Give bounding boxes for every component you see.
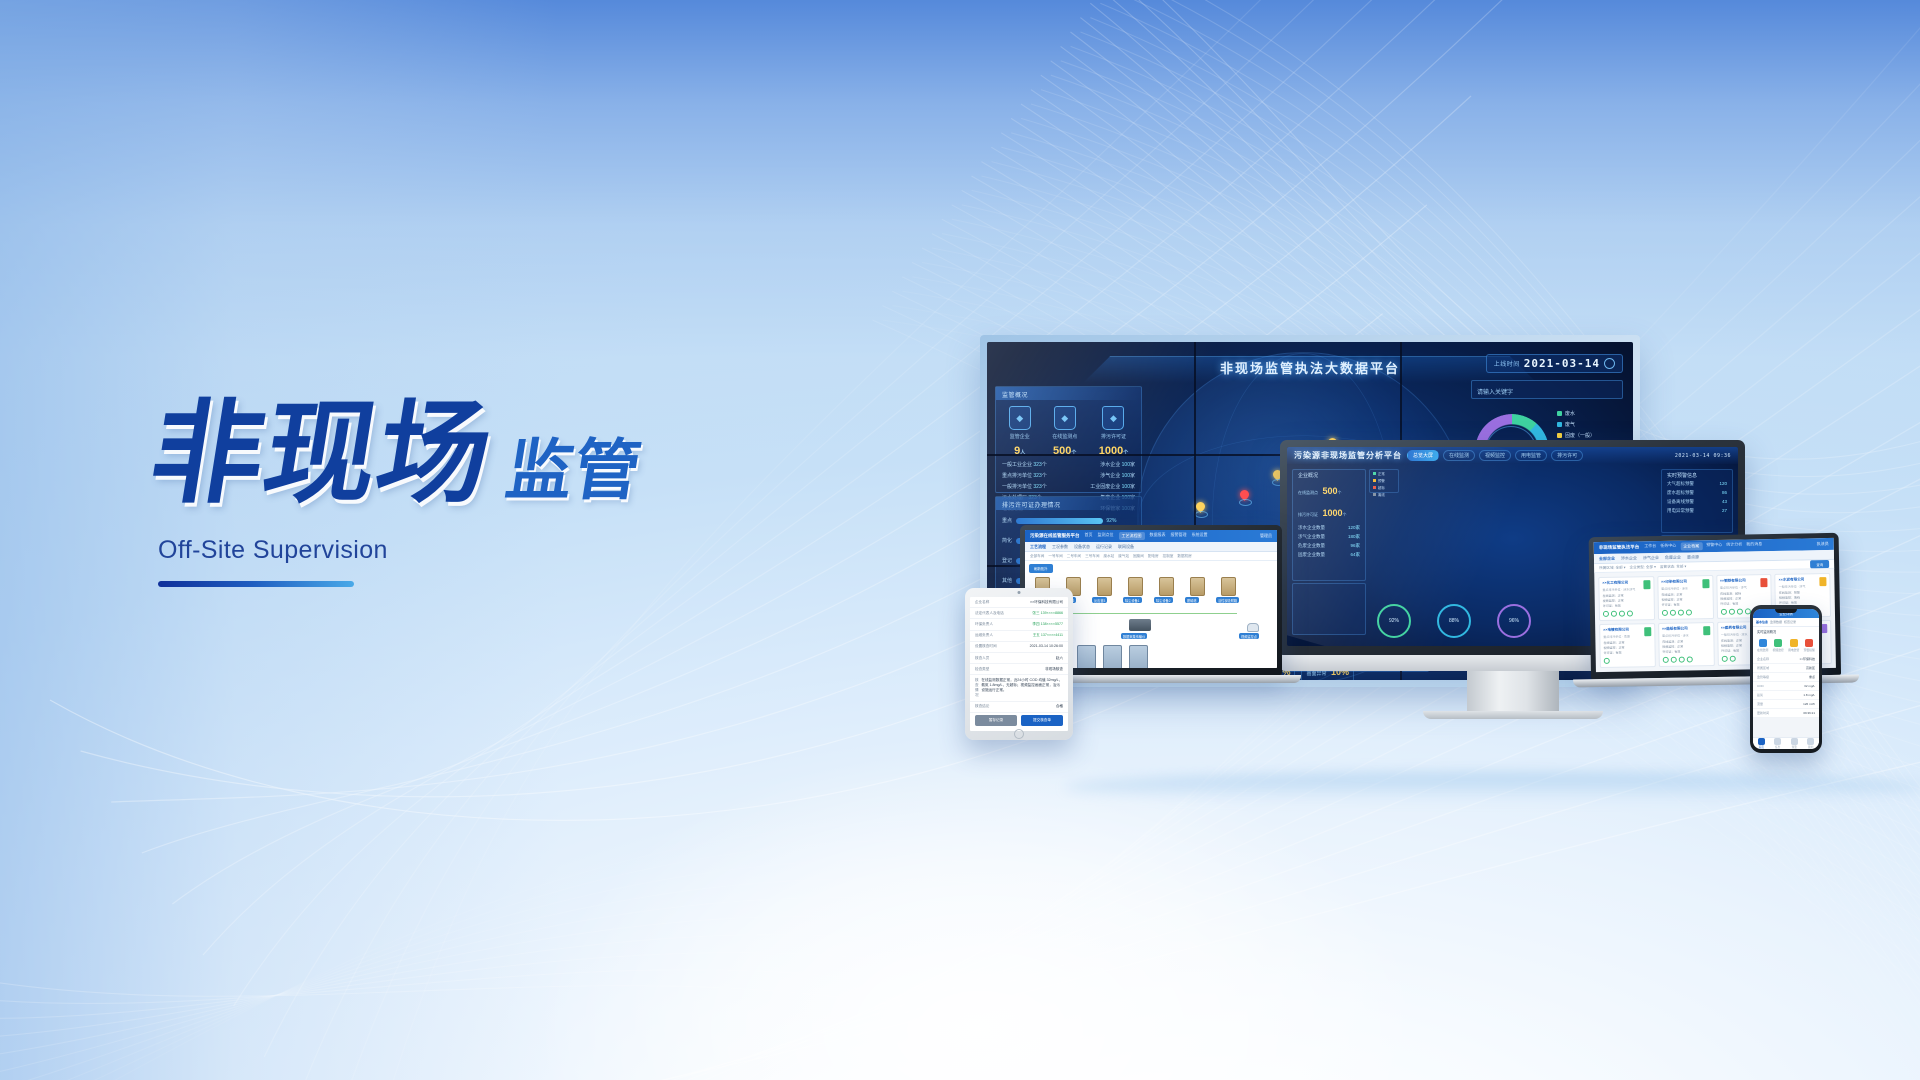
cards-menu-item[interactable]: 预警中心 xyxy=(1706,542,1722,550)
phone-tab[interactable]: 核查记录 xyxy=(1784,620,1796,624)
topology-filter-chip[interactable]: 废水站 xyxy=(1104,554,1115,559)
imac-datetime: 2021-03-14 09:36 xyxy=(1675,453,1731,459)
camera-icon[interactable] xyxy=(1247,623,1259,632)
topology-filter-chip[interactable]: 三号车间 xyxy=(1085,554,1099,559)
tablet-detail-row: 核查情况在线监测数据正常，近24小时 COD 均值 32mg/L，氨氮 1.8m… xyxy=(970,675,1068,701)
tablet-detail-row: 核查结论合格 xyxy=(970,702,1068,713)
topology-filter-chip[interactable]: 固废间 xyxy=(1133,554,1144,559)
topology-menu-item[interactable]: 监测点位 xyxy=(1098,532,1114,540)
smartphone-device: 企业详情 基本信息监测数据核查记录 实时监测概况 在线监测视频监控用电监管预警提… xyxy=(1750,605,1822,753)
tablet-screen[interactable]: 企业名称××环保科技有限公司法定代表人及电话张三 139××××8866环保负责… xyxy=(970,597,1068,731)
phone-tabs: 基本信息监测数据核查记录 xyxy=(1753,618,1819,627)
topology-user: 管理员 xyxy=(1260,533,1272,539)
topology-filter-chip[interactable]: 数据机房 xyxy=(1177,554,1191,559)
tablet-detail-row: 企业名称××环保科技有限公司 xyxy=(970,597,1068,608)
cards-filter-select[interactable]: 企业类型: 全部 ▾ xyxy=(1629,565,1655,570)
phone-nav-item[interactable]: 预警 xyxy=(1791,738,1798,749)
topology-sub-tab[interactable]: 工艺流程 xyxy=(1030,544,1046,550)
tablet-camera-icon xyxy=(1018,591,1021,594)
topology-app-topbar: 污染源在线监管服务平台 首页监测点位工艺流程图数据报表报警管理系统设置 管理员 xyxy=(1025,530,1277,542)
topology-app-name: 污染源在线监管服务平台 xyxy=(1030,533,1080,539)
topology-sub-tabs: 工艺流程工况参数设备状态运行记录联网设备 xyxy=(1025,542,1277,552)
topology-device-label: 脱硫塔 xyxy=(1185,597,1199,603)
topology-sub-tab[interactable]: 设备状态 xyxy=(1074,544,1090,550)
card-details: 在线监测：正常视频监控：正常许可证：有效 xyxy=(1603,640,1651,656)
hero-subtitle-en: Off-Site Supervision xyxy=(158,536,641,565)
card-status-tag xyxy=(1703,626,1710,635)
hero-title-main: 非现场 xyxy=(143,398,500,510)
imac-right-rows: 大气超标预警120废水超标预警86设备离线预警43用电异常预警27 xyxy=(1662,479,1732,515)
imac-right-panel: 实时预警信息 大气超标预警120废水超标预警86设备离线预警43用电异常预警27 xyxy=(1661,469,1733,533)
card-status-tag xyxy=(1819,577,1826,586)
card-status-tag xyxy=(1643,580,1650,589)
card-status-dots xyxy=(1604,658,1610,664)
cards-filter-select[interactable]: 所属区域: 全部 ▾ xyxy=(1599,565,1625,570)
tablet-detail-rows: 企业名称××环保科技有限公司法定代表人及电话张三 139××××8866环保负责… xyxy=(970,597,1068,713)
phone-detail-row: 所属区域高新区 xyxy=(1753,664,1819,673)
card-status-dots xyxy=(1662,609,1692,616)
topology-device-label: 活性炭吸附箱 xyxy=(1216,597,1239,603)
phone-detail-row: 企业名称××环保科技 xyxy=(1753,655,1819,664)
topology-device-label: 反应釜3 xyxy=(1092,597,1107,603)
topology-menu-item[interactable]: 工艺流程图 xyxy=(1119,532,1145,540)
tablet-submit-button[interactable]: 提交核查单 xyxy=(1021,715,1063,726)
topology-camera-label: 视频监控点 xyxy=(1239,633,1259,639)
hero-title-row: 非现场 监管 xyxy=(152,398,641,510)
enterprise-card[interactable]: ××造纸有限公司 重点排污单位 · 涉水 在线监测：正常视频监控：正常许可证：有… xyxy=(1658,622,1715,667)
phone-detail-rows: 企业名称××环保科技所属区域高新区监管等级重点COD32 mg/L氨氮1.8 m… xyxy=(1753,655,1819,718)
card-status-tag xyxy=(1702,579,1709,588)
cards-menu-item[interactable]: 任务中心 xyxy=(1660,543,1676,551)
card-status-dots xyxy=(1662,656,1692,663)
topology-filter-chips: 全部车间一号车间二号车间三号车间废水站废气站固废间配电房控制室数据机房 xyxy=(1025,552,1277,561)
topology-refresh-button[interactable]: 刷新拓扑 xyxy=(1029,564,1053,573)
imac-right-panel-title: 实时预警信息 xyxy=(1662,470,1732,479)
cards-menu-item[interactable]: 企业档案 xyxy=(1680,542,1702,550)
cards-menu: 工作台任务中心企业档案预警中心统计分析我的消息 xyxy=(1644,541,1762,551)
phone-section-title: 实时监测概况 xyxy=(1753,627,1819,636)
cards-search-button[interactable]: 查询 xyxy=(1810,560,1829,568)
card-details: 在线监测：正常视频监控：正常许可证：有效 xyxy=(1662,639,1710,655)
imac-tab[interactable]: 排污许可 xyxy=(1551,450,1583,461)
enterprise-card[interactable]: ××电镀有限公司 重点排污单位 · 危废 在线监测：正常视频监控：正常许可证：有… xyxy=(1599,623,1656,668)
topology-server-node[interactable] xyxy=(1129,645,1148,668)
enterprise-card[interactable]: ××化工有限公司 重点排污单位 · 涉水涉气 在线监测：正常视频监控：正常许可证… xyxy=(1598,576,1655,621)
monitor-foot xyxy=(1423,711,1603,719)
topology-menu: 首页监测点位工艺流程图数据报表报警管理系统设置 xyxy=(1085,532,1208,540)
card-status-dots xyxy=(1720,608,1750,615)
cards-menu-item[interactable]: 统计分析 xyxy=(1726,542,1742,550)
cards-sub-tab[interactable]: 全部企业 xyxy=(1599,555,1615,561)
imac-right-row: 大气超标预警120 xyxy=(1662,479,1732,488)
phone-quick-action[interactable]: 视频监控 xyxy=(1773,639,1784,652)
topology-device-node[interactable] xyxy=(1190,577,1205,596)
phone-detail-row: 流量126 m³/h xyxy=(1753,700,1819,709)
phone-nav-item[interactable]: 我的 xyxy=(1807,738,1814,749)
phone-notch xyxy=(1775,609,1797,613)
monitor-glare xyxy=(1287,447,1607,646)
topology-device-node[interactable] xyxy=(1097,577,1112,596)
phone-bottom-nav: 首页任务预警我的 xyxy=(1753,737,1819,749)
topology-filter-chip[interactable]: 控制室 xyxy=(1163,554,1174,559)
topology-device-label: 除尘设备2 xyxy=(1154,597,1173,603)
cards-user: 执法员 xyxy=(1817,541,1829,547)
cards-sub-tab[interactable]: 涉气企业 xyxy=(1643,554,1659,560)
phone-quick-action[interactable]: 用电监管 xyxy=(1788,639,1799,652)
cards-sub-tab[interactable]: 重点源 xyxy=(1687,554,1699,560)
tablet-save-button[interactable]: 暂存记录 xyxy=(975,715,1017,726)
tablet-action-buttons: 暂存记录提交核查单 xyxy=(975,715,1063,726)
topology-device-node[interactable] xyxy=(1128,577,1143,596)
cards-sub-tab[interactable]: 涉水企业 xyxy=(1621,555,1637,561)
tablet-detail-row: 环保负责人李四 138××××5577 xyxy=(970,619,1068,630)
phone-quick-action[interactable]: 在线监测 xyxy=(1757,639,1768,652)
topology-device-node[interactable] xyxy=(1221,577,1236,596)
tablet-detail-row: 法定代表人及电话张三 139××××8866 xyxy=(970,608,1068,619)
topology-collector-node[interactable] xyxy=(1129,619,1151,631)
topology-sub-tab[interactable]: 联网设备 xyxy=(1118,544,1134,550)
hero-underline xyxy=(158,581,354,587)
topology-menu-item[interactable]: 首页 xyxy=(1085,532,1093,540)
card-details: 在线监测：正常视频监控：正常许可证：有效 xyxy=(1661,592,1709,608)
imac-right-row: 废水超标预警86 xyxy=(1662,488,1732,497)
topology-filter-chip[interactable]: 二号车间 xyxy=(1067,554,1081,559)
topology-menu-item[interactable]: 系统设置 xyxy=(1192,532,1208,540)
cards-menu-item[interactable]: 我的消息 xyxy=(1746,541,1762,549)
phone-detail-row: 监管等级重点 xyxy=(1753,673,1819,682)
device-cluster: 非现场监管执法大数据平台 上线时间 2021-03-14 请输入关键字 监管概况… xyxy=(965,320,1905,840)
card-details: 在线监测：预警视频监控：离线许可证：有效 xyxy=(1779,590,1827,606)
topology-filter-chip[interactable]: 配电房 xyxy=(1148,554,1159,559)
desk-shadow xyxy=(1065,772,1920,802)
phone-detail-row: COD32 mg/L xyxy=(1753,682,1819,691)
phone-nav-item[interactable]: 首页 xyxy=(1758,738,1765,749)
phone-detail-row: 氨氮1.8 mg/L xyxy=(1753,691,1819,700)
topology-sub-tab[interactable]: 工况参数 xyxy=(1052,544,1068,550)
cards-filter-select[interactable]: 监管状态: 全部 ▾ xyxy=(1660,564,1686,569)
phone-tab[interactable]: 监测数据 xyxy=(1770,620,1782,624)
card-status-tag xyxy=(1761,578,1768,587)
tablet-detail-row: 设置核查时间2021-03-14 10:26:00 xyxy=(970,642,1068,653)
topology-filter-chip[interactable]: 废气站 xyxy=(1118,554,1129,559)
topology-server-node[interactable] xyxy=(1103,645,1122,668)
hero-headline: 非现场 监管 Off-Site Supervision xyxy=(152,398,641,587)
topology-collector-label: 数据采集传输仪 xyxy=(1121,633,1147,639)
enterprise-card[interactable]: ××印染有限公司 重点排污单位 · 涉水 在线监测：正常视频监控：正常许可证：有… xyxy=(1657,575,1714,620)
imac-right-row: 设备离线预警43 xyxy=(1662,497,1732,506)
topology-device-label: 除尘设备1 xyxy=(1123,597,1142,603)
card-status-dots xyxy=(1721,656,1735,662)
topology-filter-chip[interactable]: 一号车间 xyxy=(1048,554,1062,559)
card-details: 在线监测：正常视频监控：正常许可证：有效 xyxy=(1603,593,1651,609)
topology-device-node[interactable] xyxy=(1159,577,1174,596)
imac-right-row: 用电异常预警27 xyxy=(1662,506,1732,515)
hero-title-sub: 监管 xyxy=(502,438,646,504)
card-status-dots xyxy=(1603,610,1633,617)
tablet-home-button[interactable] xyxy=(1014,729,1024,739)
phone-detail-row: 更新时间09:36:21 xyxy=(1753,709,1819,718)
phone-nav-item[interactable]: 任务 xyxy=(1774,738,1781,749)
monitor-neck xyxy=(1467,671,1559,711)
topology-filter-chip[interactable]: 全部车间 xyxy=(1030,554,1044,559)
phone-screen[interactable]: 企业详情 基本信息监测数据核查记录 实时监测概况 在线监测视频监控用电监管预警提… xyxy=(1753,609,1819,749)
phone-tab[interactable]: 基本信息 xyxy=(1756,620,1768,624)
topology-wire xyxy=(1047,613,1237,614)
hero-banner: 非现场 监管 Off-Site Supervision 非现场监管执法大数据平台… xyxy=(0,0,1920,1080)
tablet-detail-row: 检查类型非现场核查 xyxy=(970,664,1068,675)
tablet-detail-row: 核查人员赵六 xyxy=(970,653,1068,664)
topology-menu-item[interactable]: 数据报表 xyxy=(1150,532,1166,540)
cards-sub-tab[interactable]: 危废企业 xyxy=(1665,554,1681,560)
topology-sub-tab[interactable]: 运行记录 xyxy=(1096,544,1112,550)
topology-server-node[interactable] xyxy=(1077,645,1096,668)
tablet-device: 企业名称××环保科技有限公司法定代表人及电话张三 139××××8866环保负责… xyxy=(965,588,1073,740)
cards-app-name: 非现场监管执法平台 xyxy=(1599,544,1640,551)
phone-quick-action[interactable]: 预警提醒 xyxy=(1804,639,1815,652)
card-status-tag xyxy=(1644,627,1651,636)
cards-menu-item[interactable]: 工作台 xyxy=(1644,543,1656,551)
tablet-detail-row: 运维负责人王五 137××××4411 xyxy=(970,631,1068,642)
phone-quick-actions: 在线监测视频监控用电监管预警提醒 xyxy=(1753,636,1819,655)
topology-menu-item[interactable]: 报警管理 xyxy=(1171,532,1187,540)
